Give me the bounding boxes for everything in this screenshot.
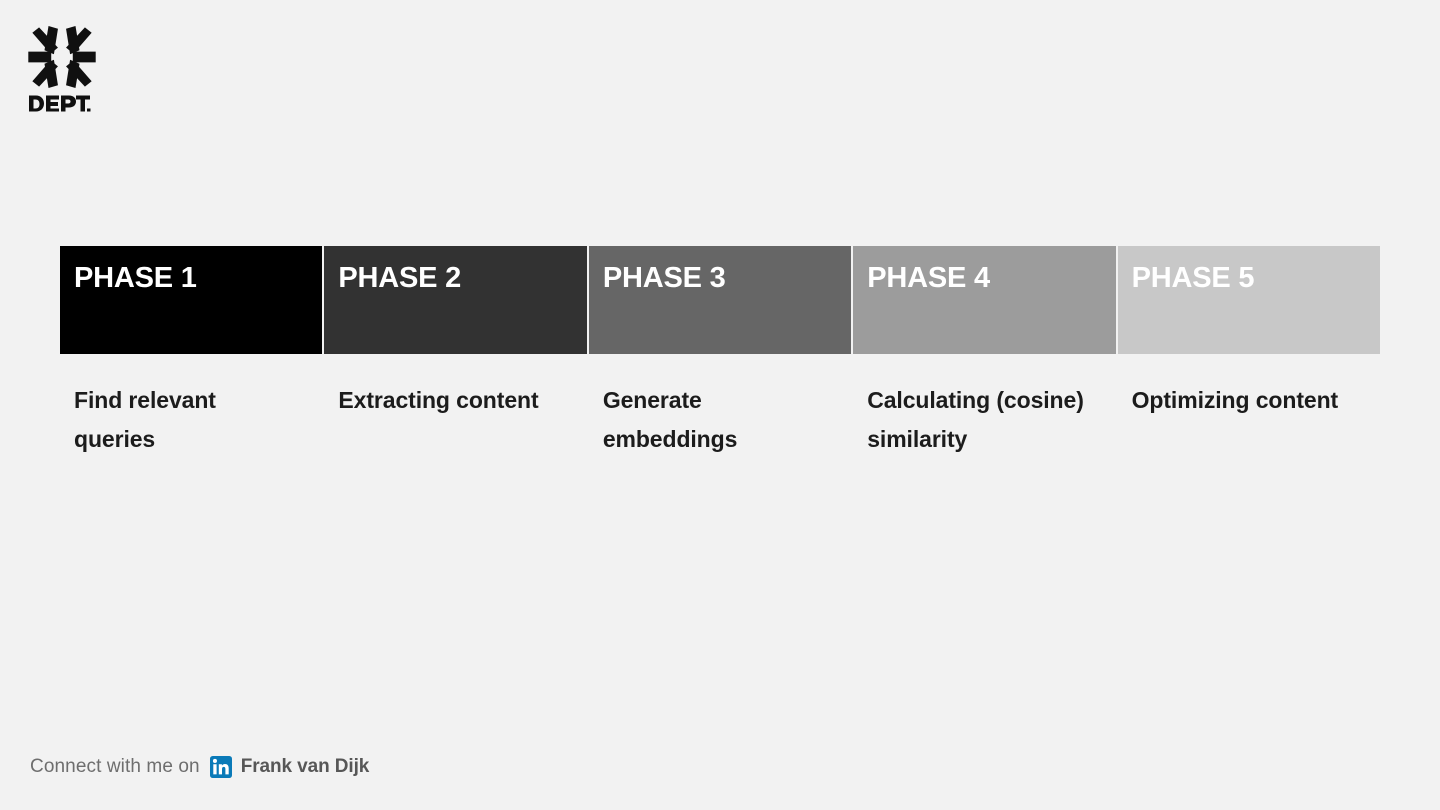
dept-wordmark <box>29 94 91 114</box>
brand-logo <box>28 26 100 114</box>
phase-column-4: PHASE 4 Calculating (cosine) similarity <box>853 246 1115 459</box>
linkedin-icon[interactable] <box>210 756 232 778</box>
phase-body-2: Extracting content <box>324 354 586 420</box>
phase-header-label: PHASE 5 <box>1132 263 1380 293</box>
phase-header-2: PHASE 2 <box>324 246 586 354</box>
phase-header-1: PHASE 1 <box>60 246 322 354</box>
phase-column-1: PHASE 1 Find relevant queries <box>60 246 322 459</box>
phase-column-3: PHASE 3 Generate embeddings <box>589 246 851 459</box>
phase-description: Extracting content <box>338 381 560 420</box>
phase-header-label: PHASE 3 <box>603 263 851 293</box>
footer-credit: Connect with me on Frank van Dijk <box>30 754 369 780</box>
phase-header-label: PHASE 1 <box>74 263 322 293</box>
dept-asterisk-icon <box>28 26 96 88</box>
phase-description: Calculating (cosine) similarity <box>867 381 1089 459</box>
footer-author-name[interactable]: Frank van Dijk <box>241 756 369 778</box>
footer-prefix-text: Connect with me on <box>30 756 200 778</box>
phase-column-2: PHASE 2 Extracting content <box>324 246 586 459</box>
phase-description: Generate embeddings <box>603 381 825 459</box>
phase-body-3: Generate embeddings <box>589 354 851 459</box>
phase-strip: PHASE 1 Find relevant queries PHASE 2 Ex… <box>60 246 1380 459</box>
phase-header-3: PHASE 3 <box>589 246 851 354</box>
phase-header-5: PHASE 5 <box>1118 246 1380 354</box>
phase-description: Find relevant queries <box>74 381 296 459</box>
phase-header-label: PHASE 4 <box>867 263 1115 293</box>
phase-body-1: Find relevant queries <box>60 354 322 459</box>
phase-body-4: Calculating (cosine) similarity <box>853 354 1115 459</box>
phase-column-5: PHASE 5 Optimizing content <box>1118 246 1380 459</box>
phase-header-label: PHASE 2 <box>338 263 586 293</box>
phase-body-5: Optimizing content <box>1118 354 1380 420</box>
phase-description: Optimizing content <box>1132 381 1354 420</box>
phase-header-4: PHASE 4 <box>853 246 1115 354</box>
